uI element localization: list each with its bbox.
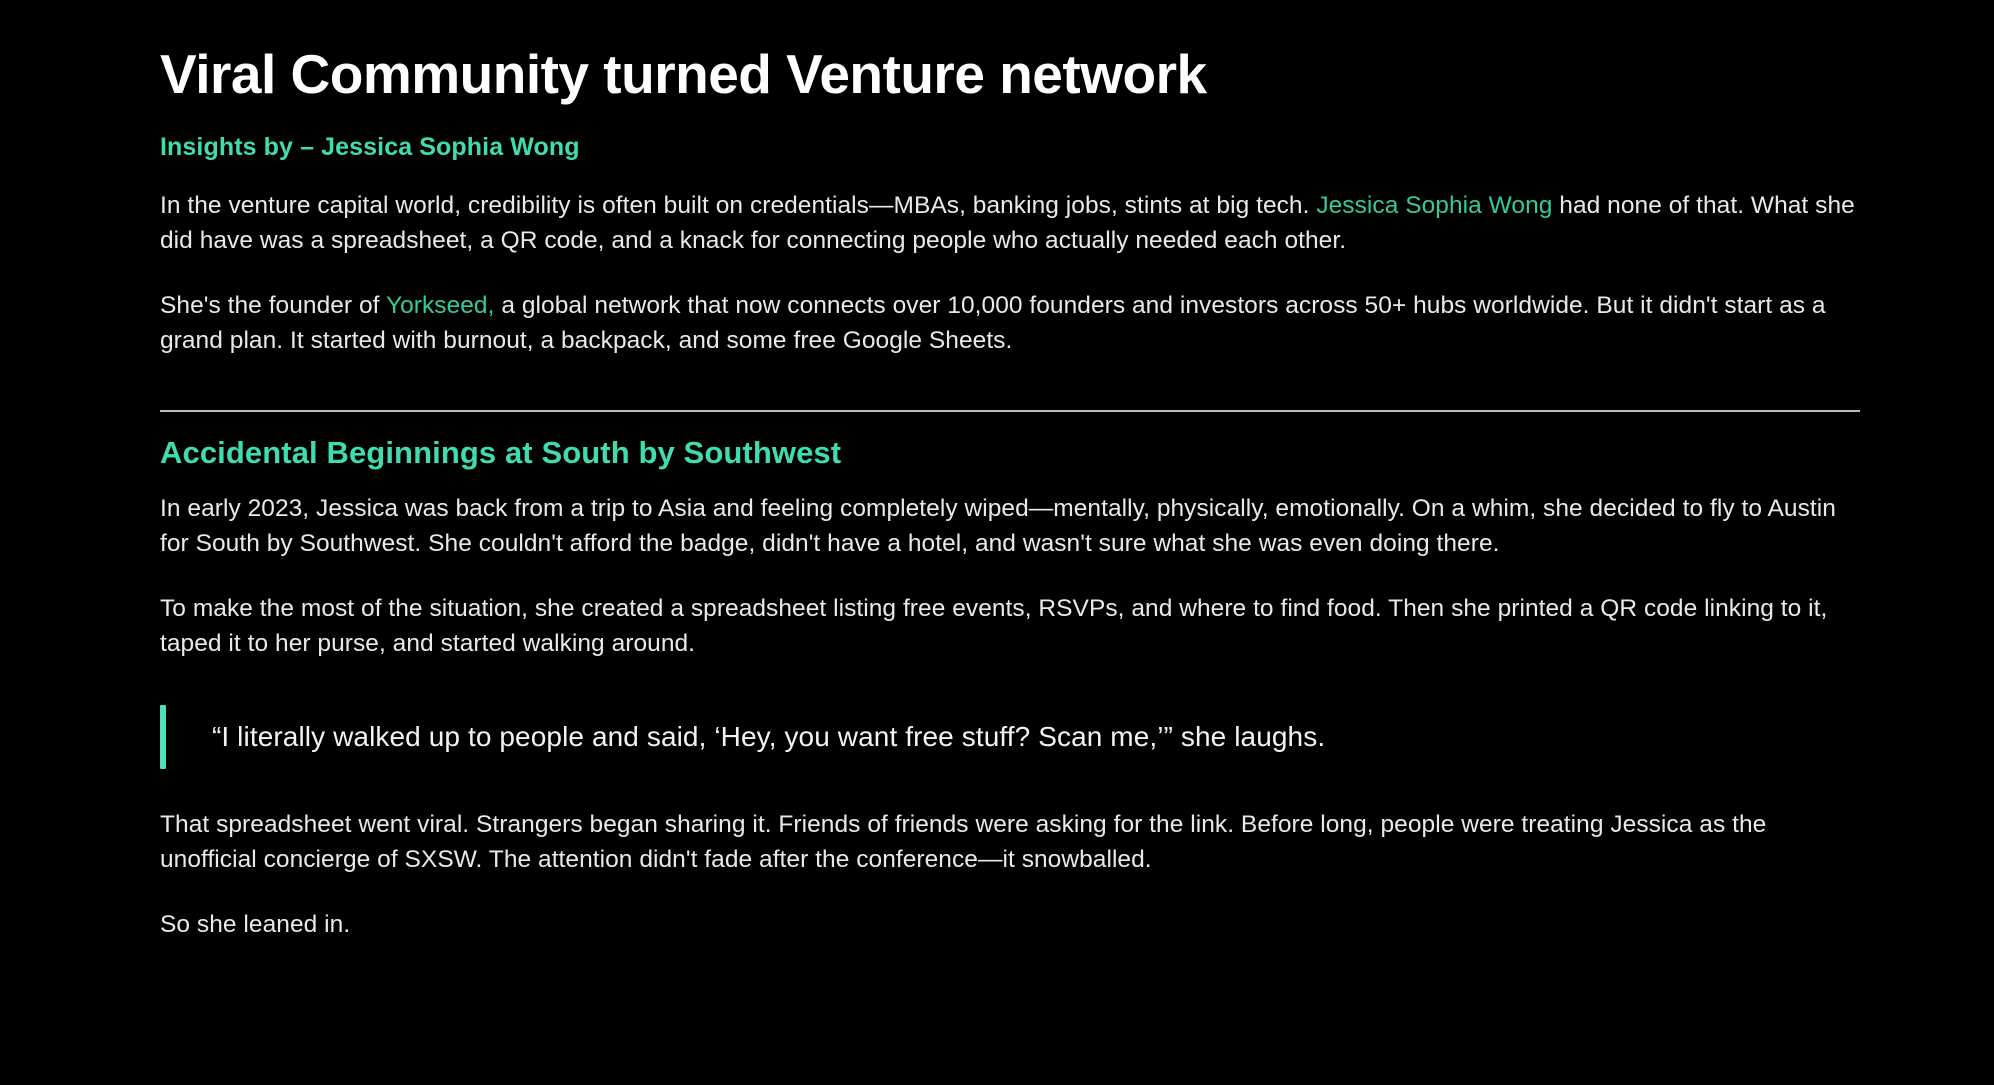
section-paragraph-1: In early 2023, Jessica was back from a t…	[160, 471, 1860, 561]
section-paragraph-4: So she leaned in.	[160, 877, 1860, 942]
quote-text: “I literally walked up to people and sai…	[212, 719, 1325, 755]
article-container: Viral Community turned Venture network I…	[160, 0, 1860, 942]
section-paragraph-3: That spreadsheet went viral. Strangers b…	[160, 779, 1860, 877]
section-heading-accidental-beginnings: Accidental Beginnings at South by Southw…	[160, 412, 1860, 471]
blockquote: “I literally walked up to people and sai…	[160, 705, 1860, 769]
founder-paragraph: She's the founder of Yorkseed, a global …	[160, 258, 1860, 358]
founder-text-part1: She's the founder of	[160, 292, 386, 319]
link-jessica-sophia-wong[interactable]: Jessica Sophia Wong	[1316, 192, 1552, 219]
intro-text-part1: In the venture capital world, credibilit…	[160, 192, 1316, 219]
link-yorkseed[interactable]: Yorkseed,	[386, 292, 495, 319]
quote-accent-bar	[160, 705, 166, 769]
page-title: Viral Community turned Venture network	[160, 0, 1860, 106]
section-paragraph-2: To make the most of the situation, she c…	[160, 561, 1860, 661]
quote-container: “I literally walked up to people and sai…	[160, 661, 1860, 779]
byline: Insights by – Jessica Sophia Wong	[160, 106, 1860, 162]
intro-paragraph: In the venture capital world, credibilit…	[160, 162, 1860, 258]
